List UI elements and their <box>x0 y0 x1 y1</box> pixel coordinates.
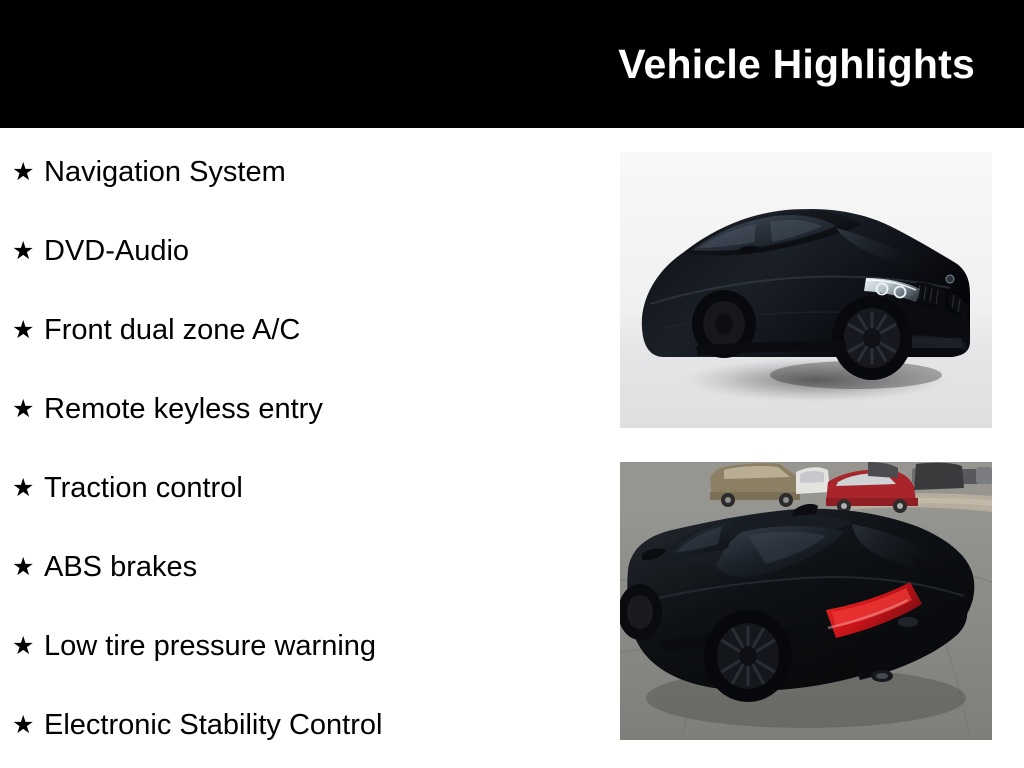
feature-label: ABS brakes <box>44 547 197 587</box>
feature-label: DVD-Audio <box>44 231 189 271</box>
feature-label: Remote keyless entry <box>44 389 323 429</box>
feature-label: Low tire pressure warning <box>44 626 376 666</box>
vehicle-photo-front-image <box>620 152 992 428</box>
feature-label: Traction control <box>44 468 243 508</box>
list-item: ★ Navigation System <box>12 152 286 192</box>
list-item: ★ ABS brakes <box>12 547 197 587</box>
star-icon: ★ <box>12 389 44 429</box>
slide-header: Vehicle Highlights <box>0 0 1024 128</box>
feature-label: Front dual zone A/C <box>44 310 300 350</box>
feature-label: Electronic Stability Control <box>44 705 382 745</box>
star-icon: ★ <box>12 152 44 192</box>
star-icon: ★ <box>12 547 44 587</box>
list-item: ★ Low tire pressure warning <box>12 626 376 666</box>
list-item: ★ Front dual zone A/C <box>12 310 300 350</box>
vehicle-photo-rear-image <box>620 462 992 740</box>
vehicle-features-list: ★ Navigation System ★ DVD-Audio ★ Front … <box>0 128 610 768</box>
list-item: ★ DVD-Audio <box>12 231 189 271</box>
page-title: Vehicle Highlights <box>618 44 975 85</box>
star-icon: ★ <box>12 468 44 508</box>
star-icon: ★ <box>12 231 44 271</box>
vehicle-photo-rear <box>620 462 992 740</box>
feature-label: Navigation System <box>44 152 286 192</box>
list-item: ★ Remote keyless entry <box>12 389 323 429</box>
list-item: ★ Electronic Stability Control <box>12 705 382 745</box>
star-icon: ★ <box>12 310 44 350</box>
list-item: ★ Traction control <box>12 468 243 508</box>
slide-root: Vehicle Highlights ★ Navigation System ★… <box>0 0 1024 768</box>
vehicle-photo-front <box>620 152 992 428</box>
star-icon: ★ <box>12 626 44 666</box>
star-icon: ★ <box>12 705 44 745</box>
